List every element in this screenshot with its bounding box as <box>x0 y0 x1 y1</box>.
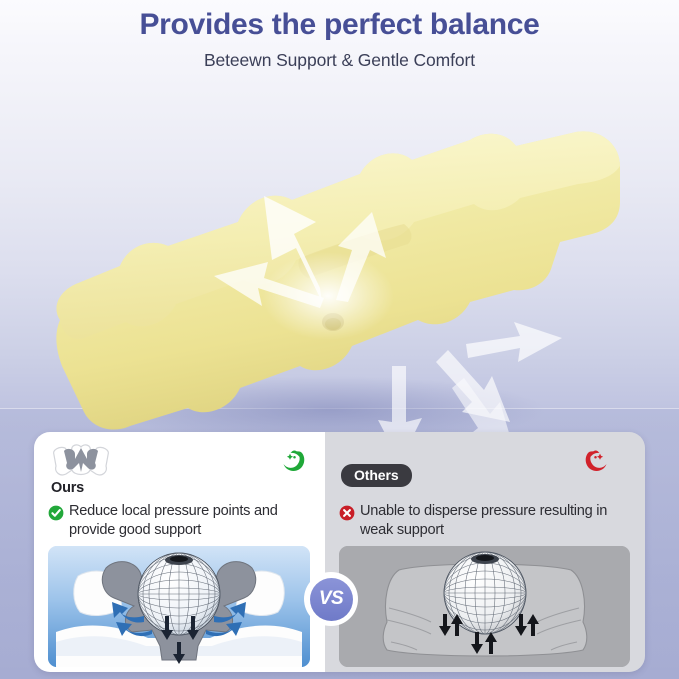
crescent-moon-icon-red <box>583 448 609 474</box>
hero-product-image <box>0 70 679 450</box>
ours-bullet: Reduce local pressure points and provide… <box>48 502 313 539</box>
wireframe-head-sphere <box>138 553 220 635</box>
others-illustration <box>339 546 630 667</box>
ours-illustration <box>48 546 310 667</box>
page-title: Provides the perfect balance <box>0 8 679 43</box>
others-bullet: Unable to disperse pressure resulting in… <box>339 502 631 539</box>
ours-label: Ours <box>51 480 84 496</box>
check-circle-icon <box>48 505 64 521</box>
others-header: Others <box>339 444 631 498</box>
ours-header: Ours <box>48 444 313 498</box>
comparison-card: Ours Reduce local <box>34 432 645 672</box>
airflow-glow <box>262 252 394 340</box>
others-bullet-text: Unable to disperse pressure resulting in… <box>360 502 629 539</box>
comparison-pane-others: Others Unable to d <box>325 432 645 672</box>
vs-label: VS <box>319 588 343 610</box>
vs-badge: VS <box>304 572 358 626</box>
page-subtitle: Beteewn Support & Gentle Comfort <box>0 50 679 71</box>
butterfly-pillow-icon <box>50 442 112 482</box>
headline-block: Provides the perfect balance Beteewn Sup… <box>0 8 679 71</box>
ours-bullet-text: Reduce local pressure points and provide… <box>69 502 311 539</box>
product-infographic-poster: Provides the perfect balance Beteewn Sup… <box>0 0 679 679</box>
x-circle-icon <box>339 505 355 521</box>
vs-circle: VS <box>310 578 353 621</box>
arrow-right <box>466 322 562 362</box>
comparison-pane-ours: Ours Reduce local <box>34 432 325 672</box>
crescent-moon-icon-green <box>281 448 307 474</box>
others-badge: Others <box>341 464 412 487</box>
